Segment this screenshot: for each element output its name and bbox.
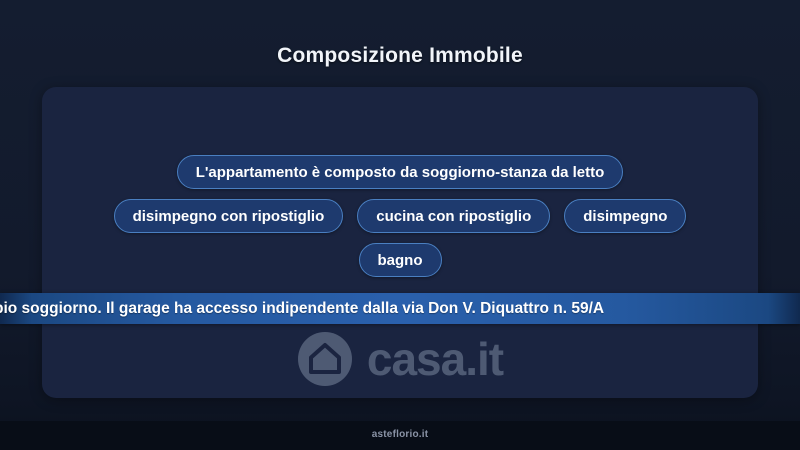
composition-pill[interactable]: cucina con ripostiglio [357,199,550,233]
marquee-text: avanderia e ampio soggiorno. Il garage h… [0,300,604,318]
pill-row: disimpegno con ripostiglio cucina con ri… [0,199,800,233]
pill-row: bagno [0,243,800,277]
marquee-banner: avanderia e ampio soggiorno. Il garage h… [0,293,800,324]
composition-pill[interactable]: disimpegno [564,199,686,233]
composition-pill[interactable]: disimpegno con ripostiglio [114,199,344,233]
page-title: Composizione Immobile [0,44,800,68]
footer-source-label: asteflorio.it [0,429,800,440]
composition-pill[interactable]: bagno [359,243,442,277]
composition-pill-area: L'appartamento è composto da soggiorno-s… [0,155,800,287]
screenshot-root: Composizione Immobile L'appartamento è c… [0,0,800,450]
pill-row: L'appartamento è composto da soggiorno-s… [0,155,800,189]
composition-pill[interactable]: L'appartamento è composto da soggiorno-s… [177,155,624,189]
